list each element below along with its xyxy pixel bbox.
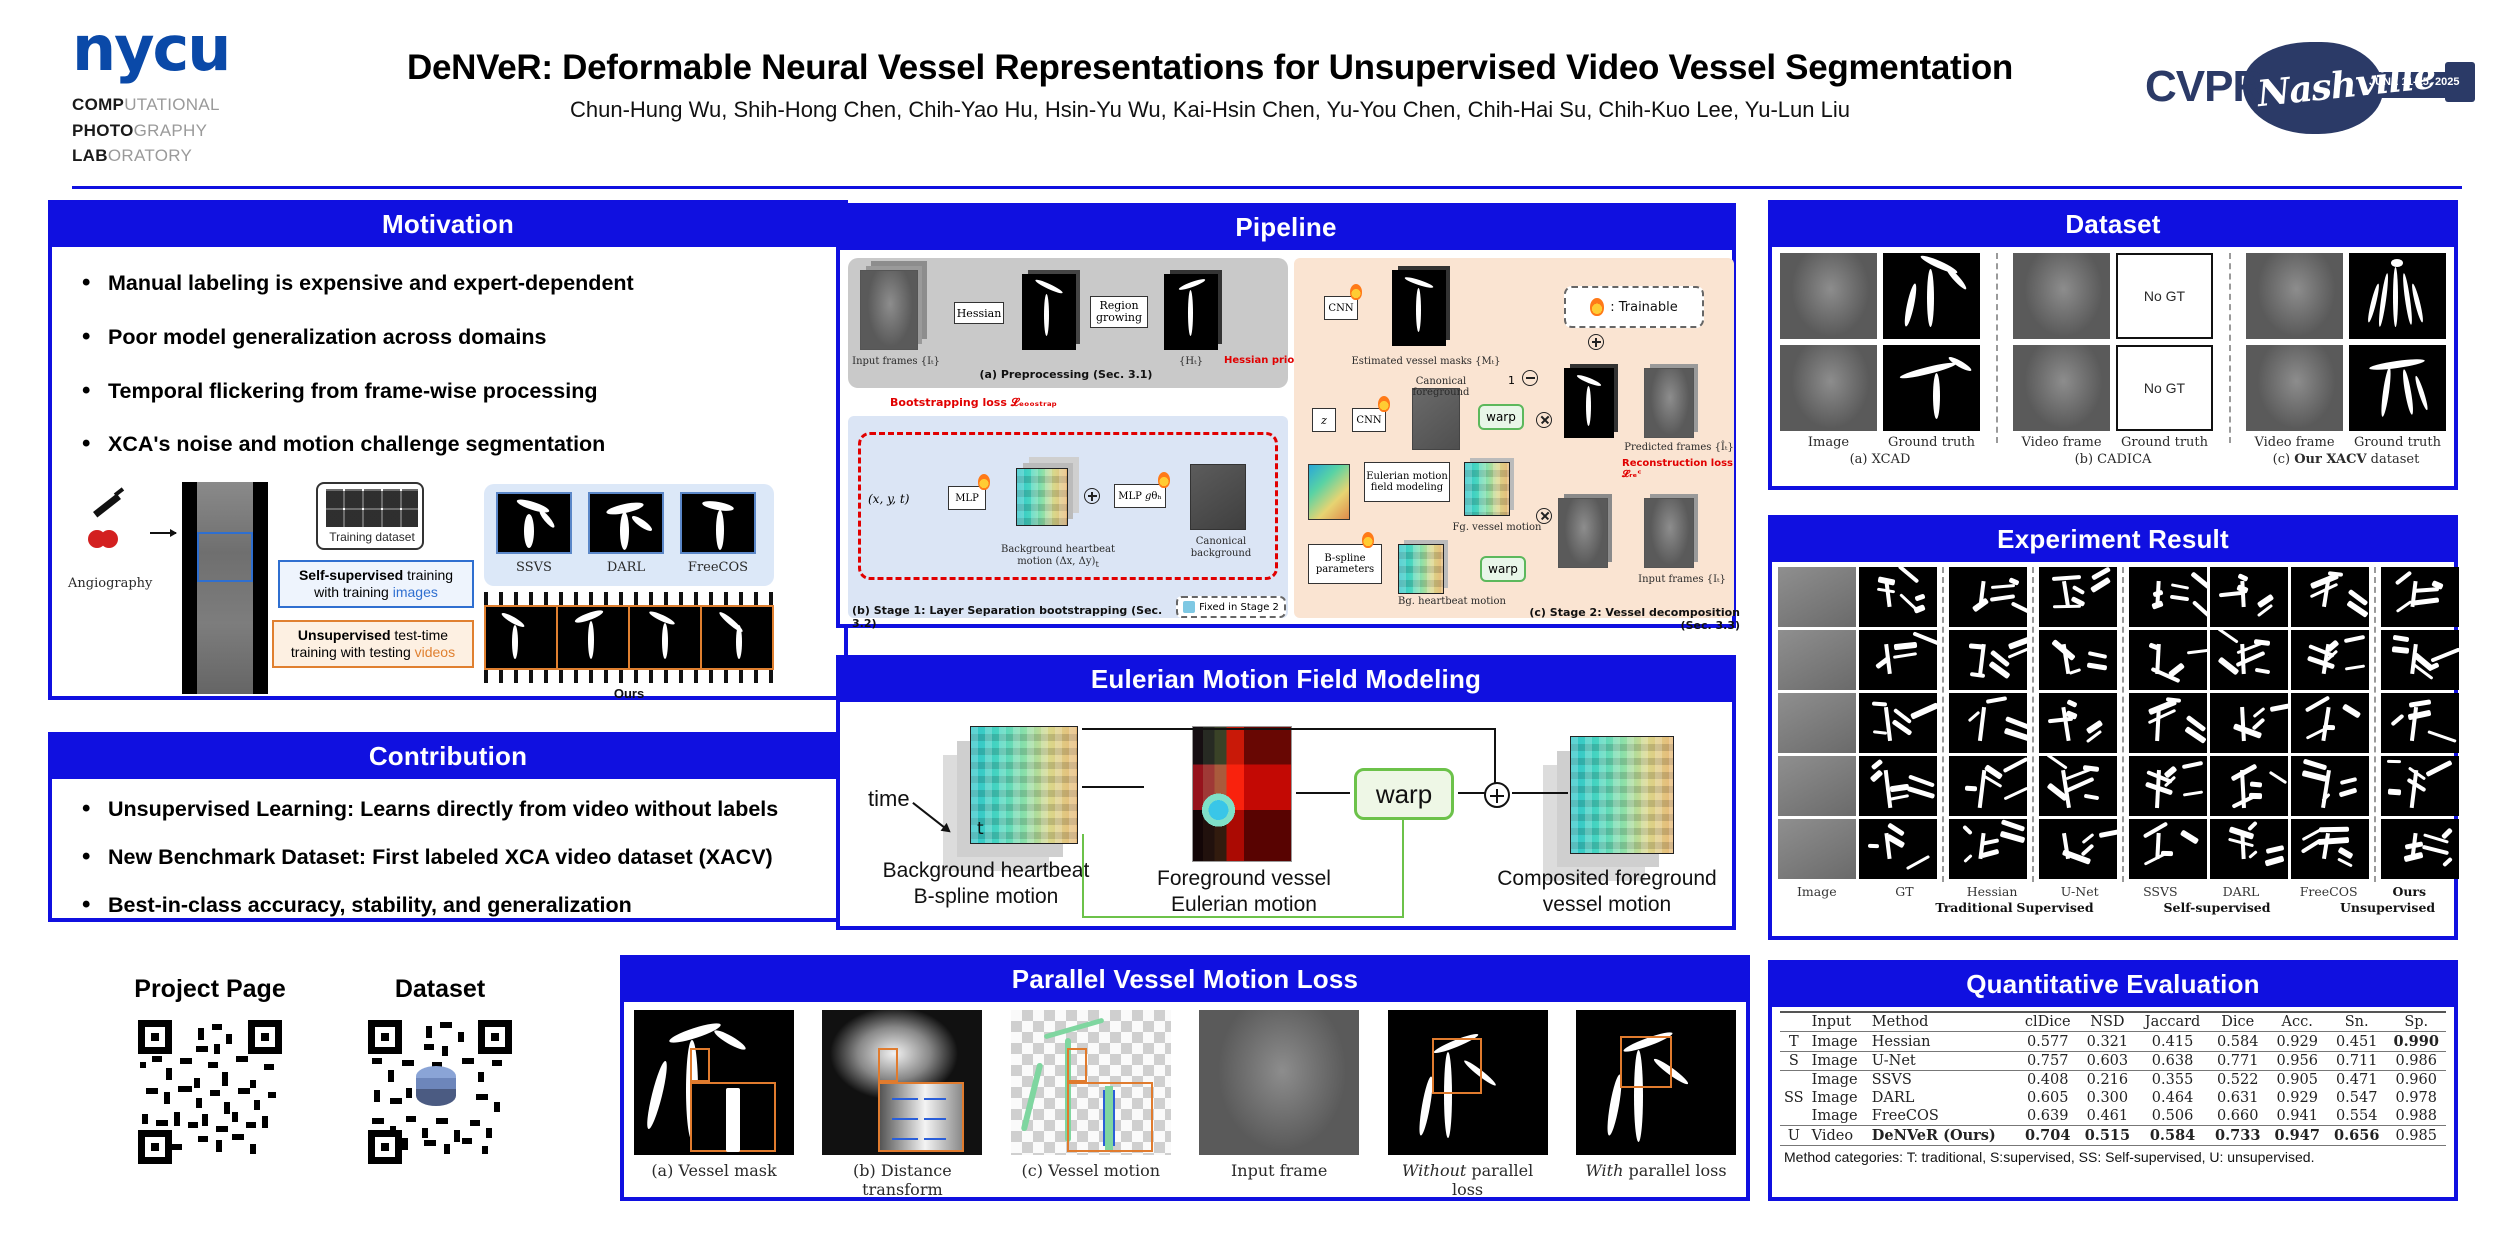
experiment-panel: Experiment Result ImageGTHessianU-NetSSV… (1768, 515, 2458, 940)
metric-value: 0.638 (2137, 1052, 2208, 1071)
row-input: Image (1808, 1071, 1868, 1090)
motivation-panel: Motivation Manual labeling is expensive … (48, 200, 848, 700)
row-method: Hessian (1868, 1032, 2018, 1052)
row-category: S (1780, 1052, 1808, 1071)
segmentation-thumb (2381, 819, 2459, 879)
metric-value: 0.733 (2208, 1126, 2268, 1146)
xcad-image-2 (1780, 345, 1877, 431)
database-icon (416, 1066, 456, 1106)
flame-icon (1350, 284, 1362, 300)
figure-cell: (a) Vessel mask (634, 1010, 794, 1180)
xacv-frame-2 (2246, 345, 2343, 431)
dataset-group-label: (a) XCAD (1780, 452, 1980, 467)
self-supervised-box: Self-supervised training with training i… (278, 560, 474, 608)
subtract-operator-icon (1522, 370, 1538, 386)
segmentation-thumb (2129, 693, 2207, 753)
qr-finder-topleft (138, 1020, 172, 1054)
angiography-thumb (1778, 756, 1856, 816)
metric-value: 0.506 (2137, 1107, 2208, 1126)
list-item: Best-in-class accuracy, stability, and g… (78, 893, 826, 919)
cadica-no-gt-2: No GT (2116, 345, 2213, 431)
input-frames-stack (860, 270, 918, 350)
lab-line-2: PHOTOGRAPHY (72, 118, 302, 144)
experiment-column (2210, 567, 2288, 882)
metric-value: 0.355 (2137, 1071, 2208, 1090)
figure-caption: (c) Vessel motion (1011, 1161, 1171, 1180)
segmentation-thumb (2210, 567, 2288, 627)
bootstrapping-loss-label: Bootstrapping loss 𝓛ₑₒₒₛₜᵣₐₚ (890, 396, 1057, 410)
metric-value: 0.321 (2078, 1032, 2138, 1052)
hessian-response-stack (1022, 274, 1076, 350)
label-spacer (2283, 884, 2287, 899)
mlp-box-1: MLP (948, 486, 986, 510)
dataset-col-label: Ground truth (1883, 435, 1980, 450)
metric-value: 0.929 (2267, 1089, 2327, 1107)
experiment-column (2381, 567, 2459, 882)
experiment-col-label: Ours (2370, 884, 2448, 899)
row-category (1780, 1071, 1808, 1090)
stage1-caption: (b) Stage 1: Layer Separation bootstrapp… (852, 604, 1172, 630)
time-label: time (868, 786, 910, 812)
dataset-col-label: Ground truth (2349, 435, 2446, 450)
group-label: Self-supervised (2097, 900, 2337, 915)
multiply-operator-icon-1 (1536, 412, 1552, 428)
cadica-frame-1 (2013, 253, 2110, 339)
preprocessing-caption: (a) Preprocessing (Sec. 3.1) (946, 368, 1186, 381)
lab-line-3: LABORATORY (72, 143, 302, 169)
nycu-wordmark: nycu (72, 18, 302, 80)
label-spacer (1859, 884, 1863, 899)
baseline-results-group: SSVS DARL FreeCOS (484, 484, 774, 586)
motivation-figure: Angiography Training dataset Self-superv… (64, 480, 832, 705)
ours-label: Ours (484, 686, 774, 701)
dataset-group-label: (c) Our XACV dataset (2246, 452, 2446, 467)
list-item: Manual labeling is expensive and expert-… (78, 271, 826, 297)
label-spacer (1946, 884, 1950, 899)
experiment-col-label: FreeCOS (2290, 884, 2368, 899)
metric-value: 0.603 (2078, 1052, 2138, 1071)
experiment-column (2039, 567, 2117, 882)
experiment-column (1949, 567, 2027, 882)
lab-name: COMPUTATIONAL PHOTOGRAPHY LABORATORY (72, 92, 302, 169)
xcad-image-1 (1780, 253, 1877, 339)
dataset-group-xcad: Image Ground truth (a) XCAD (1780, 253, 1980, 467)
cadica-frame-2 (2013, 345, 2110, 431)
segmentation-thumb (2210, 630, 2288, 690)
figure-cell: Without parallel loss (1388, 1010, 1548, 1199)
figure-caption: With parallel loss (1576, 1161, 1736, 1180)
angiography-thumb (1778, 693, 1856, 753)
experiment-col-label: Image (1778, 884, 1856, 899)
table-row: TImageHessian0.5770.3210.4150.5840.9290.… (1780, 1032, 2446, 1052)
eulerian-title: Eulerian Motion Field Modeling (840, 659, 1732, 702)
metric-value: 0.988 (2386, 1107, 2446, 1126)
estimated-masks-stack (1392, 270, 1446, 346)
warp-box-background: warp (1480, 556, 1526, 582)
metric-value: 0.522 (2208, 1071, 2268, 1090)
segmentation-thumb (2381, 756, 2459, 816)
row-method: DARL (1868, 1089, 2018, 1107)
eulerian-figure: t time Background heartbeatB-spline moti… (846, 708, 1726, 930)
contribution-panel: Contribution Unsupervised Learning: Lear… (48, 732, 848, 922)
group-label: Unsupervised (2340, 900, 2418, 915)
warp-box: warp (1354, 768, 1454, 820)
xacv-gt-1 (2349, 253, 2446, 339)
dataset-group-xacv: Video frame Ground truth (c) Our XACV da… (2246, 253, 2446, 467)
project-page-qr-code[interactable] (136, 1018, 284, 1166)
qr-finder-topright (478, 1020, 512, 1054)
row-input: Image (1808, 1089, 1868, 1107)
parallel-loss-panel: Parallel Vessel Motion Loss (a) Vessel m… (620, 955, 1750, 1201)
experiment-column (1859, 567, 1937, 882)
qr-finder-topleft (368, 1020, 402, 1054)
warp-box-foreground: warp (1478, 404, 1524, 430)
segmentation-thumb (2039, 819, 2117, 879)
composited-caption: Composited foregroundvessel motion (1482, 866, 1732, 919)
dataset-group-cadica: No GT No GT Video frame Ground truth (b)… (2013, 253, 2213, 467)
experiment-column (2129, 567, 2207, 882)
angiography-thumb (1778, 567, 1856, 627)
table-column-header (1780, 1012, 1808, 1032)
training-dataset-label: Training dataset (318, 530, 426, 544)
dataset-col-label: Video frame (2013, 435, 2110, 450)
flame-icon (1378, 396, 1390, 412)
bg-bspline-caption: Background heartbeatB-spline motion (876, 858, 1096, 911)
hessian-box: Hessian (954, 302, 1004, 324)
fg-vessel-motion-stack (1464, 462, 1510, 516)
list-item: Poor model generalization across domains (78, 325, 826, 351)
table-row: ImageFreeCOS0.6390.4610.5060.6600.9410.5… (1780, 1107, 2446, 1126)
bspline-parameters-box: B-splineparameters (1308, 544, 1382, 584)
dataset-link[interactable]: Dataset (340, 975, 540, 1166)
project-page-label: Project Page (110, 975, 310, 1004)
training-dataset-box: Training dataset (316, 482, 424, 550)
row-input: Image (1808, 1032, 1868, 1052)
project-page-link[interactable]: Project Page (110, 975, 310, 1166)
segmentation-thumb (2291, 630, 2369, 690)
xcad-gt-2 (1883, 345, 1980, 431)
table-body: TImageHessian0.5770.3210.4150.5840.9290.… (1780, 1032, 2446, 1146)
experiment-col-label: GT (1866, 884, 1944, 899)
angiography-thumb (1778, 819, 1856, 879)
segmentation-thumb (2291, 756, 2369, 816)
parallel-loss-figure: (a) Vessel mask (b) Distance transform (634, 1010, 1736, 1199)
dataset-col-label: Ground truth (2116, 435, 2213, 450)
estimated-masks-label: Estimated vessel masks {Mₜ} (1346, 356, 1506, 367)
metric-value: 0.660 (2208, 1107, 2268, 1126)
segmentation-thumb (2039, 756, 2117, 816)
cvpr-dates: JUNE 11-15, 2025 (2369, 76, 2460, 88)
lab-line-1: COMPUTATIONAL (72, 92, 302, 118)
metric-value: 0.631 (2208, 1089, 2268, 1107)
syringe-icon (86, 488, 128, 518)
metric-value: 0.711 (2327, 1052, 2387, 1071)
bg-bspline-motion-stack: t (970, 726, 1078, 844)
stage2-caption: (c) Stage 2: Vessel decomposition (Sec. … (1500, 606, 1740, 632)
poster-title: DeNVeR: Deformable Neural Vessel Represe… (300, 48, 2120, 88)
eulerian-panel: Eulerian Motion Field Modeling t time Ba… (836, 655, 1736, 930)
multiply-operator-icon-2 (1536, 508, 1552, 524)
baseline-label: FreeCOS (680, 560, 756, 575)
list-item: Unsupervised Learning: Learns directly f… (78, 797, 826, 823)
flame-icon (1158, 472, 1170, 488)
heart-icon (88, 524, 122, 554)
metric-value: 0.656 (2327, 1126, 2387, 1146)
composited-mask-stack (1564, 368, 1614, 438)
angiography-label: Angiography (68, 576, 148, 591)
flame-icon (1362, 532, 1374, 548)
segmentation-thumb (2381, 567, 2459, 627)
ours-film-strip: Ours (484, 592, 774, 684)
bg-heartbeat-motion-label: Bg. heartbeat motion (1392, 596, 1512, 607)
input-frames-stack-right (1644, 498, 1694, 568)
input-frames-label: Input frames {Iₜ} (848, 356, 944, 367)
table-column-header: Method (1868, 1012, 2018, 1032)
row-input: Image (1808, 1052, 1868, 1071)
segmentation-thumb (1949, 567, 2027, 627)
segmentation-thumb (2210, 693, 2288, 753)
segmentation-thumb (2210, 819, 2288, 879)
row-method: DeNVeR (Ours) (1868, 1126, 2018, 1146)
dataset-link-label: Dataset (340, 975, 540, 1004)
reconstruction-loss-label: Reconstruction loss 𝓛ᵣₑᶜ (1622, 458, 1742, 480)
segmentation-thumb (2291, 819, 2369, 879)
metric-value: 0.471 (2327, 1071, 2387, 1090)
segmentation-thumb (2210, 756, 2288, 816)
mlp-box-2: MLP 𝑔θₕ (1114, 484, 1166, 508)
one-literal: 1 (1508, 374, 1515, 387)
figure-caption: Input frame (1199, 1161, 1359, 1180)
segmentation-thumb (2129, 756, 2207, 816)
segmentation-thumb (1949, 630, 2027, 690)
predicted-frames-stack (1644, 368, 1694, 438)
list-item: Temporal flickering from frame-wise proc… (78, 379, 826, 405)
snowflake-icon (1183, 601, 1195, 613)
dataset-title: Dataset (1772, 204, 2454, 247)
add-operator-icon (1588, 334, 1604, 350)
experiment-column-labels: ImageGTHessianU-NetSSVSDARLFreeCOSOurs (1778, 884, 2448, 899)
metric-value: 0.990 (2386, 1032, 2446, 1052)
list-item: New Benchmark Dataset: First labeled XCA… (78, 845, 826, 871)
title-block: DeNVeR: Deformable Neural Vessel Represe… (300, 48, 2120, 123)
row-input: Image (1808, 1107, 1868, 1126)
segmentation-thumb (1949, 756, 2027, 816)
figure-caption: Without parallel loss (1388, 1161, 1548, 1199)
fixed-stage2-badge: Fixed in Stage 2 (1176, 596, 1286, 618)
motion-field-thumb (1308, 464, 1350, 520)
experiment-col-label: Hessian (1953, 884, 2031, 899)
qr-finder-bottomleft (368, 1130, 402, 1164)
dataset-group-label: (b) CADICA (2013, 452, 2213, 467)
fixed-stage2-label: Fixed in Stage 2 (1199, 602, 1279, 613)
xacv-frame-1 (2246, 253, 2343, 339)
baseline-label: SSVS (496, 560, 572, 575)
row-input: Video (1808, 1126, 1868, 1146)
group-label: Supervised (2016, 900, 2094, 915)
segmentation-thumb (2129, 567, 2207, 627)
metric-value: 0.577 (2018, 1032, 2078, 1052)
metric-value: 0.905 (2267, 1071, 2327, 1090)
table-row: SImageU-Net0.7570.6030.6380.7710.9560.71… (1780, 1052, 2446, 1071)
flame-icon (1590, 298, 1604, 316)
motivation-title: Motivation (52, 204, 844, 247)
composited-motion-stack (1570, 736, 1674, 854)
list-item: XCA's noise and motion challenge segment… (78, 432, 826, 458)
metric-value: 0.515 (2078, 1126, 2138, 1146)
segmentation-thumb (1859, 819, 1937, 879)
canonical-background-thumb (1190, 464, 1246, 530)
unsupervised-box: Unsupervised test-time training with tes… (272, 620, 474, 668)
metric-value: 0.451 (2327, 1032, 2387, 1052)
poster-header: nycu COMPUTATIONAL PHOTOGRAPHY LABORATOR… (0, 0, 2500, 190)
quantitative-title: Quantitative Evaluation (1772, 964, 2454, 1007)
segmentation-thumb (2291, 693, 2369, 753)
experiment-title: Experiment Result (1772, 519, 2454, 562)
table-column-header: Input (1808, 1012, 1868, 1032)
figure-cell: With parallel loss (1576, 1010, 1736, 1180)
fg-vessel-motion-label: Fg. vessel motion (1442, 522, 1552, 533)
row-category: T (1780, 1032, 1808, 1052)
segmentation-thumb (1949, 819, 2027, 879)
metric-value: 0.986 (2386, 1052, 2446, 1071)
pipeline-figure: Input frames {Iₜ} Hessian Regiongrowing … (846, 256, 1726, 624)
metric-value: 0.547 (2327, 1089, 2387, 1107)
metric-value: 0.985 (2386, 1126, 2446, 1146)
segmentation-thumb (1859, 567, 1937, 627)
experiment-group-labels: Traditional Supervised Self-supervised U… (1778, 900, 2448, 915)
segmentation-thumb (2039, 630, 2117, 690)
contribution-bullets: Unsupervised Learning: Learns directly f… (78, 797, 826, 918)
dataset-qr-code[interactable] (366, 1018, 514, 1166)
xcad-gt-1 (1883, 253, 1980, 339)
xacv-gt-2 (2349, 345, 2446, 431)
composited-gray-stack (1558, 498, 1608, 568)
metric-value: 0.461 (2078, 1107, 2138, 1126)
quantitative-panel: Quantitative Evaluation InputMethodclDic… (1768, 960, 2458, 1201)
table-column-header: Sp. (2386, 1012, 2446, 1032)
group-label: Traditional (1935, 900, 2013, 915)
time-arrow (912, 802, 949, 832)
flame-icon (978, 474, 990, 490)
table-column-header: Dice (2208, 1012, 2268, 1032)
figure-cell: (b) Distance transform (822, 1010, 982, 1199)
cvpr-wordmark: CVPR (2145, 62, 2263, 112)
bg-motion-stack (1016, 468, 1068, 526)
pipeline-panel: Pipeline Input frames {Iₜ} Hessian Regio… (836, 203, 1736, 628)
figure-caption: (a) Vessel mask (634, 1161, 794, 1180)
table-column-header: Jaccard (2137, 1012, 2208, 1032)
bg-heartbeat-motion-stack (1398, 544, 1444, 594)
table-column-header: NSD (2078, 1012, 2138, 1032)
metric-value: 0.554 (2327, 1107, 2387, 1126)
row-category (1780, 1107, 1808, 1126)
experiment-col-label: U-Net (2041, 884, 2119, 899)
input-coords-label: (x, y, t) (868, 492, 909, 506)
arrow-to-film (150, 532, 176, 534)
region-growing-box: Regiongrowing (1090, 296, 1148, 328)
motivation-bullets: Manual labeling is expensive and expert-… (78, 271, 826, 458)
pipeline-title: Pipeline (840, 207, 1732, 250)
column-separator (2122, 567, 2124, 882)
segmentation-thumb (1859, 756, 1937, 816)
column-separator (1942, 567, 1944, 882)
metric-value: 0.956 (2267, 1052, 2327, 1071)
cvpr-logo: CVPR Nashville JUNE 11-15, 2025 (2145, 40, 2475, 135)
table-column-header: Acc. (2267, 1012, 2327, 1032)
metric-value: 0.584 (2137, 1126, 2208, 1146)
segmentation-thumb (2381, 693, 2459, 753)
segmentation-thumb (1949, 693, 2027, 753)
row-category: U (1780, 1126, 1808, 1146)
table-row: UVideoDeNVeR (Ours)0.7040.5150.5840.7330… (1780, 1126, 2446, 1146)
hessian-output-stack (1164, 274, 1218, 350)
table-column-header: Sn. (2327, 1012, 2387, 1032)
bg-heartbeat-motion-caption: Background heartbeatmotion (Δx, Δy)t (988, 544, 1128, 569)
metric-value: 0.757 (2018, 1052, 2078, 1071)
figure-cell: Input frame (1199, 1010, 1359, 1180)
label-spacer (2034, 884, 2038, 899)
metric-value: 0.978 (2386, 1089, 2446, 1107)
metric-value: 0.415 (2137, 1032, 2208, 1052)
row-method: U-Net (1868, 1052, 2018, 1071)
metric-value: 0.941 (2267, 1107, 2327, 1126)
dataset-figure: Image Ground truth (a) XCAD No GT (1780, 253, 2446, 483)
angiography-film-strip (182, 482, 268, 694)
metric-value: 0.408 (2018, 1071, 2078, 1090)
metric-value: 0.771 (2208, 1052, 2268, 1071)
fg-eulerian-caption: Foreground vesselEulerian motion (1136, 866, 1352, 919)
column-separator (2374, 567, 2376, 882)
dataset-col-label: Video frame (2246, 435, 2343, 450)
table-column-header: clDice (2018, 1012, 2078, 1032)
angiography-thumb (1778, 630, 1856, 690)
t-label: t (977, 819, 984, 839)
column-separator (2032, 567, 2034, 882)
experiment-column (2291, 567, 2369, 882)
metric-value: 0.639 (2018, 1107, 2078, 1126)
hessian-output-label: {Hₜ} (1166, 356, 1216, 367)
table-note: Method categories: T: traditional, S:sup… (1780, 1145, 2446, 1166)
experiment-col-label: DARL (2202, 884, 2280, 899)
dataset-col-label: Image (1780, 435, 1877, 450)
figure-cell: (c) Vessel motion (1011, 1010, 1171, 1180)
add-operator-icon-stage1 (1084, 488, 1100, 504)
segmentation-thumb (1859, 693, 1937, 753)
segmentation-thumb (2039, 693, 2117, 753)
figure-caption: (b) Distance transform (822, 1161, 982, 1199)
metric-value: 0.960 (2386, 1071, 2446, 1090)
segmentation-thumb (2129, 630, 2207, 690)
input-frames-label-right: Input frames {Iₜ} (1632, 574, 1732, 585)
segmentation-thumb (2291, 567, 2369, 627)
table-header-row: InputMethodclDiceNSDJaccardDiceAcc.Sn.Sp… (1780, 1012, 2446, 1032)
canonical-foreground-label: Canonical foreground (1386, 376, 1496, 398)
metric-value: 0.584 (2208, 1032, 2268, 1052)
baseline-label: DARL (588, 560, 664, 575)
contribution-title: Contribution (52, 736, 844, 779)
experiment-grid (1778, 567, 2448, 882)
qr-finder-topright (248, 1020, 282, 1054)
metric-value: 0.929 (2267, 1032, 2327, 1052)
segmentation-thumb (1859, 630, 1937, 690)
experiment-col-label: SSVS (2122, 884, 2200, 899)
trainable-legend: : Trainable (1564, 286, 1704, 328)
metric-value: 0.300 (2078, 1089, 2138, 1107)
dataset-panel: Dataset (1768, 200, 2458, 490)
trainable-legend-label: : Trainable (1610, 300, 1678, 315)
row-category: SS (1780, 1089, 1808, 1107)
table-row: ImageSSVS0.4080.2160.3550.5220.9050.4710… (1780, 1071, 2446, 1090)
